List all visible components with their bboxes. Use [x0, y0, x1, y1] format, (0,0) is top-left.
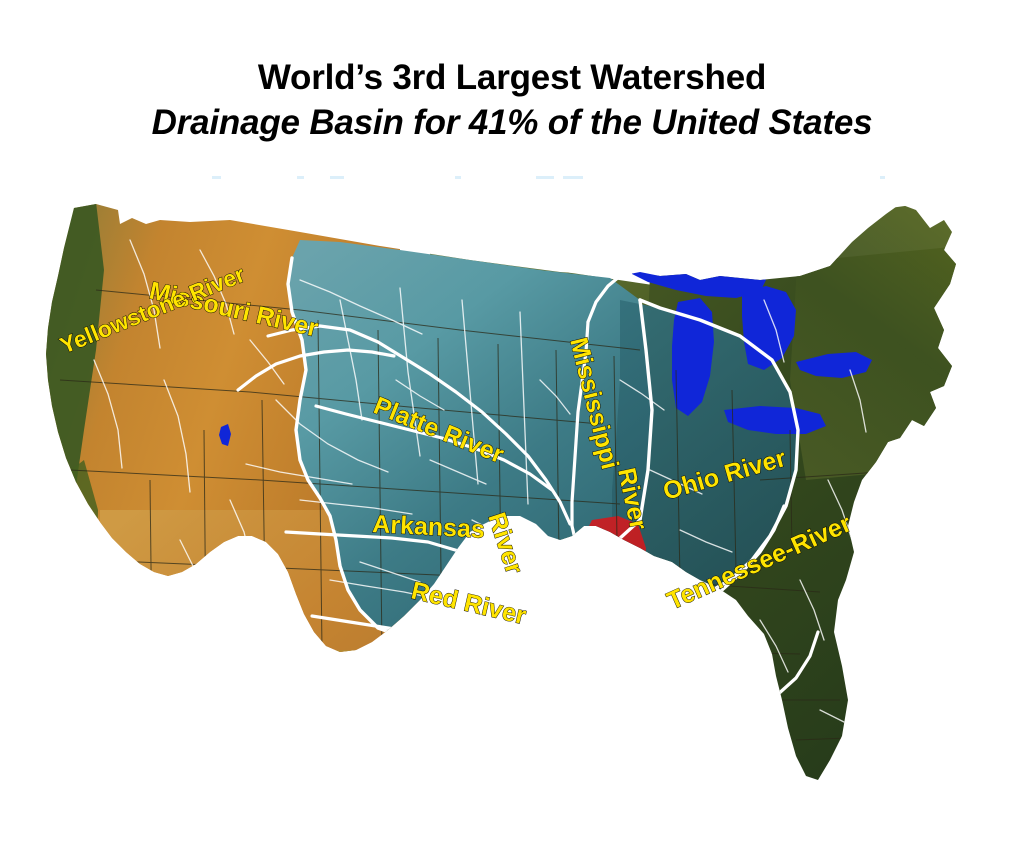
region-texas-gulf: [300, 650, 600, 853]
artifact-speck: [297, 176, 304, 179]
lake-okeechobee: [838, 776, 852, 794]
region-northeast: [790, 190, 1024, 480]
watershed-map-page: World’s 3rd Largest Watershed Drainage B…: [0, 0, 1024, 853]
river-label-red: Red River: [409, 577, 529, 631]
artifact-speck: [330, 176, 344, 179]
alluvial-plain-delta: [584, 730, 690, 772]
us-relief-map: Missouri River Yellowstone River Mississ…: [0, 180, 1024, 853]
artifact-speck: [455, 176, 461, 179]
river-mississippi-lower: [572, 526, 612, 764]
title-block: World’s 3rd Largest Watershed Drainage B…: [0, 56, 1024, 146]
river-label-arkansas: Arkansas: [372, 510, 486, 544]
artifact-speck: [212, 176, 221, 179]
map-svg: Missouri River Yellowstone River Mississ…: [0, 180, 1024, 853]
river-label-arkansas-river-word: River: [482, 509, 528, 577]
artifact-speck: [563, 176, 583, 179]
page-title-line2: Drainage Basin for 41% of the United Sta…: [0, 100, 1024, 146]
artifact-speck: [536, 176, 554, 179]
artifact-speck: [880, 176, 885, 179]
page-title-line1: World’s 3rd Largest Watershed: [0, 56, 1024, 100]
mississippi-basin-gulf-tail: [518, 700, 646, 802]
region-sierra-nevada: [52, 460, 98, 720]
